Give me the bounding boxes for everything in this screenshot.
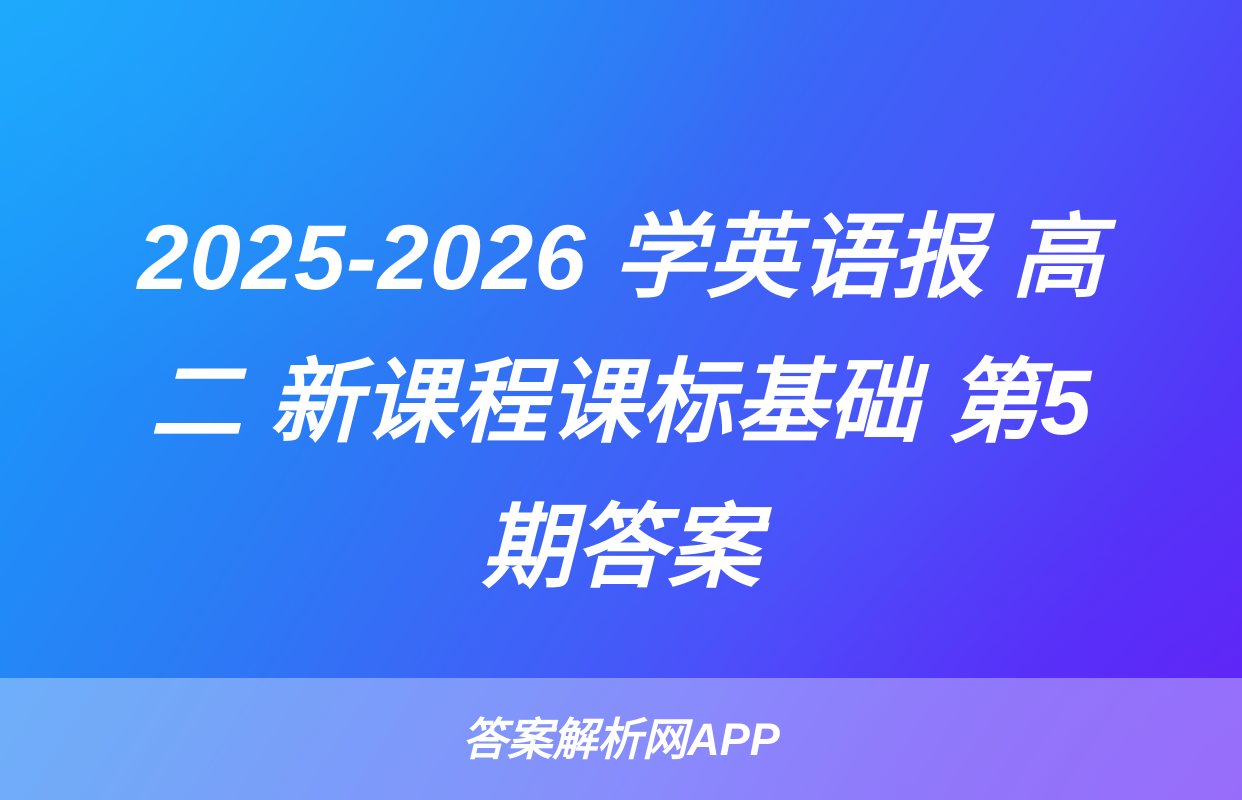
page-title: 2025-2026 学英语报 高 二 新课程课标基础 第5 期答案 [0, 186, 1242, 621]
title-line-2: 二 新课程课标基础 第5 [18, 331, 1224, 476]
app-name-label: 答案解析网APP [462, 717, 780, 762]
poster-card: 2025-2026 学英语报 高 二 新课程课标基础 第5 期答案 答案解析网A… [0, 0, 1242, 800]
footer-banner: 答案解析网APP [0, 678, 1242, 800]
title-line-3: 期答案 [18, 476, 1224, 621]
title-line-1: 2025-2026 学英语报 高 [18, 186, 1224, 331]
